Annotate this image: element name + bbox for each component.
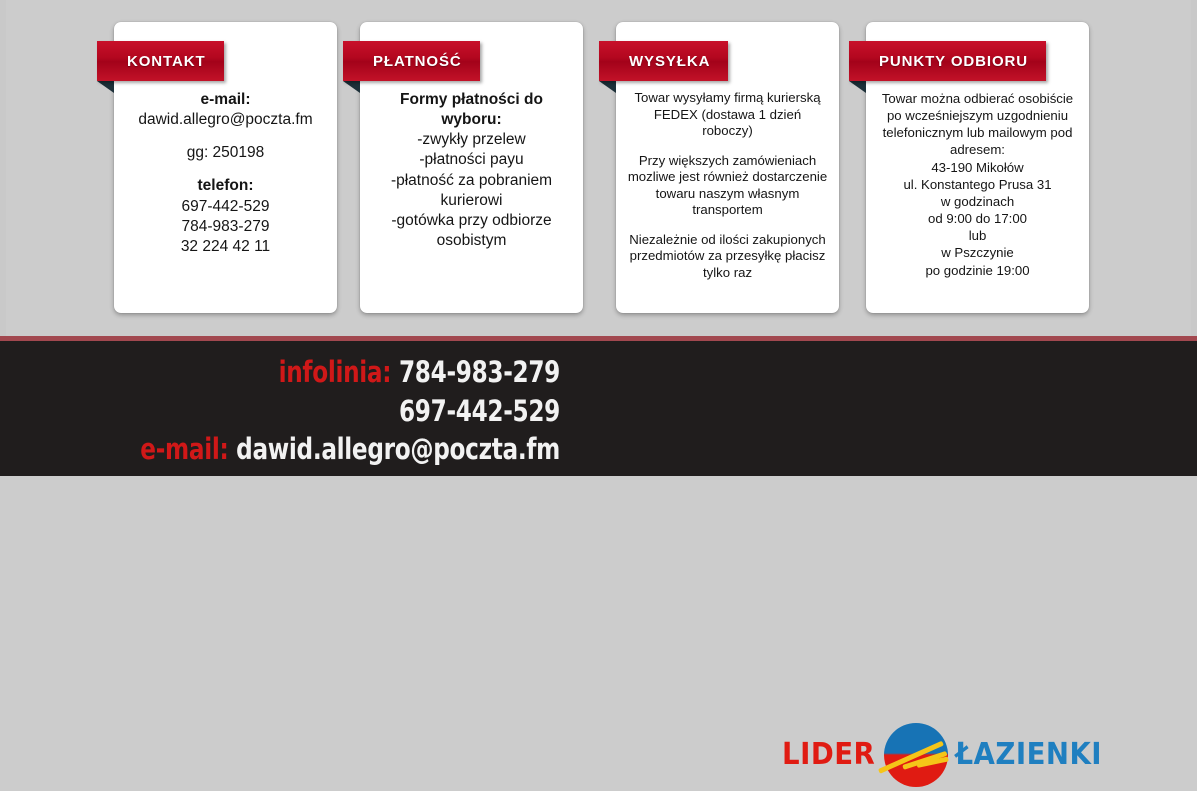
ribbon-fold-icon <box>599 81 616 93</box>
card-line: w godzinach <box>872 193 1083 210</box>
card-line: osobistym <box>366 231 577 251</box>
footer-phone-line-1: infolinia: 784-983-279 <box>112 353 560 392</box>
card-line: wyboru: <box>366 110 577 130</box>
card-spacer <box>120 130 331 143</box>
card-line: Towar można odbierać osobiście <box>872 90 1083 107</box>
footer-contact-block: infolinia: 784-983-279 697-442-529 e-mai… <box>112 353 560 469</box>
card-line: 32 224 42 11 <box>120 237 331 257</box>
logo-circle-icon <box>877 719 951 791</box>
footer-phone-label: infolinia: <box>279 355 392 389</box>
card-banner-label: WYSYŁKA <box>599 53 728 70</box>
card-banner-kontakt: KONTAKT <box>97 41 224 81</box>
card-line: dawid.allegro@poczta.fm <box>120 110 331 130</box>
card-line: -płatności payu <box>366 150 577 170</box>
logo-word-lazienki: ŁAZIENKI <box>956 740 1103 770</box>
footer-phone-line-2: 697-442-529 <box>112 392 560 431</box>
info-card-kontakt: KONTAKT e-mail: dawid.allegro@poczta.fm … <box>114 22 337 313</box>
card-line: -płatność za pobraniem <box>366 171 577 191</box>
logo-word-lider: LIDER <box>782 740 875 770</box>
card-line: telefonicznym lub mailowym pod <box>872 124 1083 141</box>
footer-bar: infolinia: 784-983-279 697-442-529 e-mai… <box>0 341 1197 476</box>
card-line: mozliwe jest również dostarczenie <box>622 169 833 186</box>
card-banner-label: PŁATNOŚĆ <box>343 53 480 70</box>
footer-phone-value-2: 697-442-529 <box>399 394 560 428</box>
card-line: towaru naszym własnym <box>622 186 833 203</box>
card-spacer <box>622 219 833 232</box>
card-line: 697-442-529 <box>120 197 331 217</box>
card-line: Przy większych zamówieniach <box>622 153 833 170</box>
card-banner-punkty-odbioru: PUNKTY ODBIORU <box>849 41 1046 81</box>
card-line: Niezależnie od ilości zakupionych <box>622 232 833 249</box>
card-line: 784-983-279 <box>120 217 331 237</box>
page-edge-left <box>0 0 6 336</box>
card-body-kontakt: e-mail: dawid.allegro@poczta.fm gg: 2501… <box>120 90 331 257</box>
card-line: w Pszczynie <box>872 244 1083 261</box>
card-line: adresem: <box>872 141 1083 158</box>
card-line: 43-190 Mikołów <box>872 159 1083 176</box>
footer-email-label: e-mail: <box>140 432 228 466</box>
card-body-platnosc: Formy płatności do wyboru: -zwykły przel… <box>366 90 577 251</box>
footer-phone-value-1: 784-983-279 <box>399 355 560 389</box>
card-spacer <box>120 163 331 176</box>
info-card-wysylka: WYSYŁKA Towar wysyłamy firmą kurierską F… <box>616 22 839 313</box>
card-line: -zwykły przelew <box>366 130 577 150</box>
ribbon-fold-icon <box>343 81 360 93</box>
card-banner-label: PUNKTY ODBIORU <box>849 53 1046 70</box>
card-line: po godzinie 19:00 <box>872 262 1083 279</box>
card-line: Towar wysyłamy firmą kurierską <box>622 90 833 107</box>
card-line: od 9:00 do 17:00 <box>872 210 1083 227</box>
footer-email-line: e-mail: dawid.allegro@poczta.fm <box>112 430 560 469</box>
brand-logo: LIDER ŁAZIENKI <box>778 719 1098 791</box>
card-line: po wcześniejszym uzgodnieniu <box>872 107 1083 124</box>
card-line: tylko raz <box>622 265 833 282</box>
card-line: gg: 250198 <box>120 143 331 163</box>
card-line: przedmiotów za przesyłkę płacisz <box>622 248 833 265</box>
card-body-punkty-odbioru: Towar można odbierać osobiście po wcześn… <box>872 90 1083 279</box>
card-banner-wysylka: WYSYŁKA <box>599 41 728 81</box>
card-spacer <box>622 140 833 153</box>
card-line: kurierowi <box>366 191 577 211</box>
ribbon-fold-icon <box>849 81 866 93</box>
card-line: e-mail: <box>120 90 331 110</box>
card-line: lub <box>872 227 1083 244</box>
card-line: roboczy) <box>622 123 833 140</box>
page-edge-right <box>1191 0 1197 336</box>
card-line: Formy płatności do <box>366 90 577 110</box>
card-line: -gotówka przy odbiorze <box>366 211 577 231</box>
card-banner-label: KONTAKT <box>97 53 224 70</box>
card-line: ul. Konstantego Prusa 31 <box>872 176 1083 193</box>
footer-email-value: dawid.allegro@poczta.fm <box>236 432 560 466</box>
info-card-punkty-odbioru: PUNKTY ODBIORU Towar można odbierać osob… <box>866 22 1089 313</box>
card-body-wysylka: Towar wysyłamy firmą kurierską FEDEX (do… <box>622 90 833 281</box>
ribbon-fold-icon <box>97 81 114 93</box>
info-card-platnosc: PŁATNOŚĆ Formy płatności do wyboru: -zwy… <box>360 22 583 313</box>
card-line: telefon: <box>120 176 331 196</box>
card-line: FEDEX (dostawa 1 dzień <box>622 107 833 124</box>
card-banner-platnosc: PŁATNOŚĆ <box>343 41 480 81</box>
promo-page: KONTAKT e-mail: dawid.allegro@poczta.fm … <box>0 0 1197 476</box>
info-cards-area: KONTAKT e-mail: dawid.allegro@poczta.fm … <box>0 0 1197 336</box>
card-line: transportem <box>622 202 833 219</box>
